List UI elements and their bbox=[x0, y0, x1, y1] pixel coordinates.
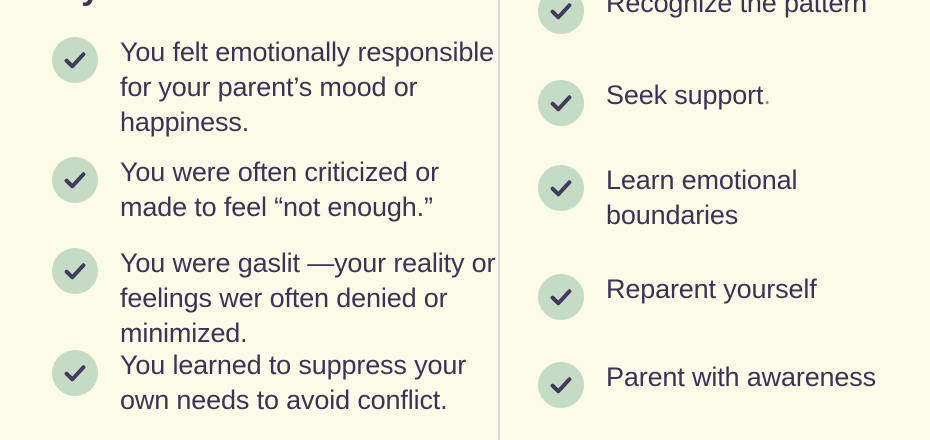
list-item: Parent with awareness bbox=[538, 360, 876, 408]
check-icon bbox=[538, 80, 584, 126]
list-item: Reparent yourself bbox=[538, 272, 817, 320]
check-icon bbox=[52, 37, 98, 83]
list-item-label: Learn emotional boundaries bbox=[606, 163, 930, 233]
trailing-punctuation: . bbox=[763, 80, 770, 110]
infographic-canvas: by a Narcissistic Parent You felt emotio… bbox=[0, 0, 930, 440]
check-icon bbox=[538, 362, 584, 408]
check-icon bbox=[52, 157, 98, 203]
list-item-label: You learned to suppress your own needs t… bbox=[120, 348, 498, 418]
list-item-label: Recognize the pattern bbox=[606, 0, 867, 21]
list-item: Recognize the pattern bbox=[538, 0, 867, 34]
list-item-label: You were often criticized or made to fee… bbox=[120, 155, 498, 225]
check-icon bbox=[538, 0, 584, 34]
list-item: You felt emotionally responsible for you… bbox=[52, 35, 498, 140]
list-item-label: Reparent yourself bbox=[606, 272, 817, 307]
list-item-label: Parent with awareness bbox=[606, 360, 876, 395]
check-icon bbox=[538, 274, 584, 320]
check-icon bbox=[52, 248, 98, 294]
left-column: You felt emotionally responsible for you… bbox=[0, 0, 498, 440]
list-item: You learned to suppress your own needs t… bbox=[52, 348, 498, 418]
check-icon bbox=[52, 350, 98, 396]
list-item: Seek support. bbox=[538, 78, 771, 126]
list-item: Learn emotional boundaries bbox=[538, 163, 930, 233]
list-item: You were often criticized or made to fee… bbox=[52, 155, 498, 225]
check-icon bbox=[538, 165, 584, 211]
right-column: Recognize the pattern Seek support. Lear… bbox=[500, 0, 930, 440]
list-item: You were gaslit —your reality or feeling… bbox=[52, 246, 498, 351]
list-item-label: You felt emotionally responsible for you… bbox=[120, 35, 498, 140]
list-item-label: You were gaslit —your reality or feeling… bbox=[120, 246, 498, 351]
list-item-label: Seek support. bbox=[606, 78, 771, 113]
